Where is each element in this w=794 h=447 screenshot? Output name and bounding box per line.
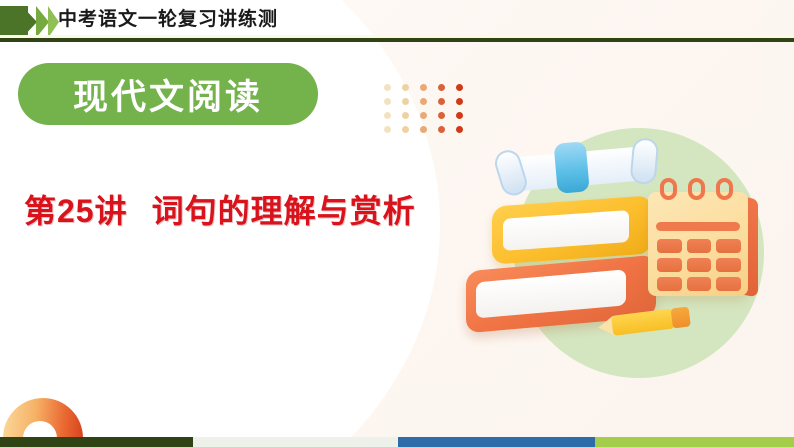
- slide-canvas: 中考语文一轮复习讲练测 现代文阅读 第25讲词句的理解与赏析: [0, 0, 794, 447]
- decorative-dot: [402, 98, 409, 105]
- pencil-end: [671, 306, 691, 328]
- decorative-dot: [456, 84, 463, 91]
- footer-bar-light-green: [595, 437, 794, 447]
- calendar-date-cell: [716, 258, 741, 272]
- decorative-dot: [420, 98, 427, 105]
- footer-bar-blue: [398, 437, 595, 447]
- decorative-dot: [420, 84, 427, 91]
- page-title-lecture: 第25讲: [24, 193, 128, 229]
- decorative-dot: [384, 84, 391, 91]
- footer-bar-gray: [193, 437, 398, 447]
- decorative-dot: [438, 98, 445, 105]
- decorative-dot: [384, 98, 391, 105]
- calendar-face: [648, 192, 748, 296]
- section-badge-label: 现代文阅读: [73, 69, 263, 120]
- calendar-date-cell: [657, 239, 682, 253]
- decorative-dot: [402, 126, 409, 133]
- calendar-ring-1: [660, 178, 677, 200]
- decorative-dot: [384, 112, 391, 119]
- orange-book-pages: [476, 269, 626, 318]
- calendar-date-grid: [657, 239, 741, 291]
- footer-bar-dark-green: [0, 437, 193, 447]
- decorative-dot: [438, 84, 445, 91]
- decorative-dot: [402, 112, 409, 119]
- page-title-topic: 词句的理解与赏析: [152, 193, 416, 229]
- calendar-date-cell: [687, 277, 712, 291]
- scroll-ribbon: [554, 141, 590, 194]
- decorative-dot: [420, 126, 427, 133]
- yellow-book-pages: [503, 210, 629, 251]
- chevron-right-icon-1: [22, 6, 37, 38]
- calendar-date-cell: [657, 277, 682, 291]
- page-title: 第25讲词句的理解与赏析: [24, 186, 416, 232]
- section-badge: 现代文阅读: [18, 63, 318, 125]
- calendar-date-cell: [687, 258, 712, 272]
- calendar-ring-2: [688, 178, 705, 200]
- header-rule: [0, 38, 794, 42]
- calendar-header-bar: [656, 222, 740, 231]
- calendar-date-cell: [687, 239, 712, 253]
- decorative-dot: [420, 112, 427, 119]
- decorative-dot: [402, 84, 409, 91]
- decorative-dot: [456, 98, 463, 105]
- books-scroll-calendar-illustration: [452, 108, 792, 383]
- decorative-dot: [384, 126, 391, 133]
- decorative-dot: [438, 126, 445, 133]
- header-title: 中考语文一轮复习讲练测: [58, 5, 278, 35]
- scroll-end-left: [492, 147, 530, 199]
- calendar-date-cell: [716, 239, 741, 253]
- calendar-date-cell: [657, 258, 682, 272]
- calendar-icon: [648, 178, 760, 296]
- calendar-date-cell: [716, 277, 741, 291]
- decorative-dot: [438, 112, 445, 119]
- calendar-ring-3: [716, 178, 733, 200]
- slide-header: 中考语文一轮复习讲练测: [0, 0, 794, 44]
- yellow-book-icon: [492, 195, 652, 264]
